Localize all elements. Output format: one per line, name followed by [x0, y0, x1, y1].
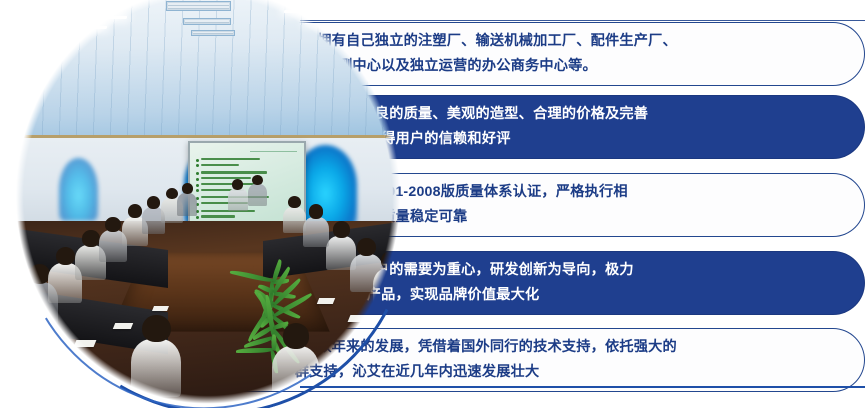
attendee-head [147, 196, 160, 209]
attendee-head [252, 175, 263, 185]
screen-header-line [250, 151, 298, 153]
screen-bullet [196, 164, 199, 167]
attendee-head [128, 204, 142, 218]
attendee-head [105, 217, 121, 232]
screen-text-line [201, 158, 260, 160]
screen-text-line [201, 171, 267, 173]
ceiling-light [305, 22, 335, 24]
document-on-desk [348, 315, 369, 322]
attendee-head [56, 247, 75, 266]
wall-blue-glow [59, 158, 98, 222]
plant-leaf [229, 268, 273, 283]
document-on-desk [113, 323, 133, 329]
attendee-torso [228, 188, 248, 210]
screen-bullet [196, 178, 199, 181]
attendee-torso [177, 193, 197, 216]
document-on-desk [34, 357, 59, 365]
attendee-head [283, 323, 310, 349]
ceiling-vent-icon [166, 1, 232, 11]
conference-room-photo [12, 0, 404, 408]
ceiling-light [72, 26, 106, 29]
attendee-head [182, 183, 193, 194]
attendee [373, 251, 404, 307]
screen-bullet [196, 159, 199, 162]
attendee [228, 179, 248, 210]
document-on-desk [73, 340, 96, 347]
ceiling-vent-icon [191, 30, 235, 36]
ceiling-vent-icon [183, 18, 232, 25]
plant-leaf [236, 348, 273, 353]
photo-scene [12, 0, 404, 408]
attendee [130, 315, 183, 396]
document-on-desk [152, 306, 169, 311]
attendee-head [381, 251, 401, 270]
ceiling [12, 0, 404, 137]
document-on-desk [317, 298, 335, 304]
screen-text-line [201, 164, 240, 166]
infographic-canvas: 1、公司拥有自己独立的注塑厂、输送机械加工厂、配件生产厂、 工程塑料检测中心以及… [0, 0, 865, 408]
ceiling-light [89, 16, 128, 19]
ceiling-light [284, 10, 318, 13]
attendee [177, 183, 198, 215]
attendee-head [232, 179, 243, 190]
attendee-head [309, 204, 324, 218]
attendee-head [288, 196, 301, 208]
screen-bullet [196, 216, 199, 219]
attendee-torso [303, 217, 329, 247]
attendee [247, 175, 267, 205]
attendee-torso [248, 184, 267, 206]
attendee [282, 196, 306, 232]
bottom-divider-line [300, 386, 865, 388]
attendee-torso [272, 346, 319, 400]
screen-bullet [196, 172, 199, 175]
attendee-head [333, 221, 350, 237]
attendee-torso [131, 339, 182, 397]
attendee-torso [373, 268, 404, 308]
attendee-torso [283, 207, 306, 233]
screen-text-line [201, 215, 235, 217]
attendee-head [142, 315, 170, 342]
